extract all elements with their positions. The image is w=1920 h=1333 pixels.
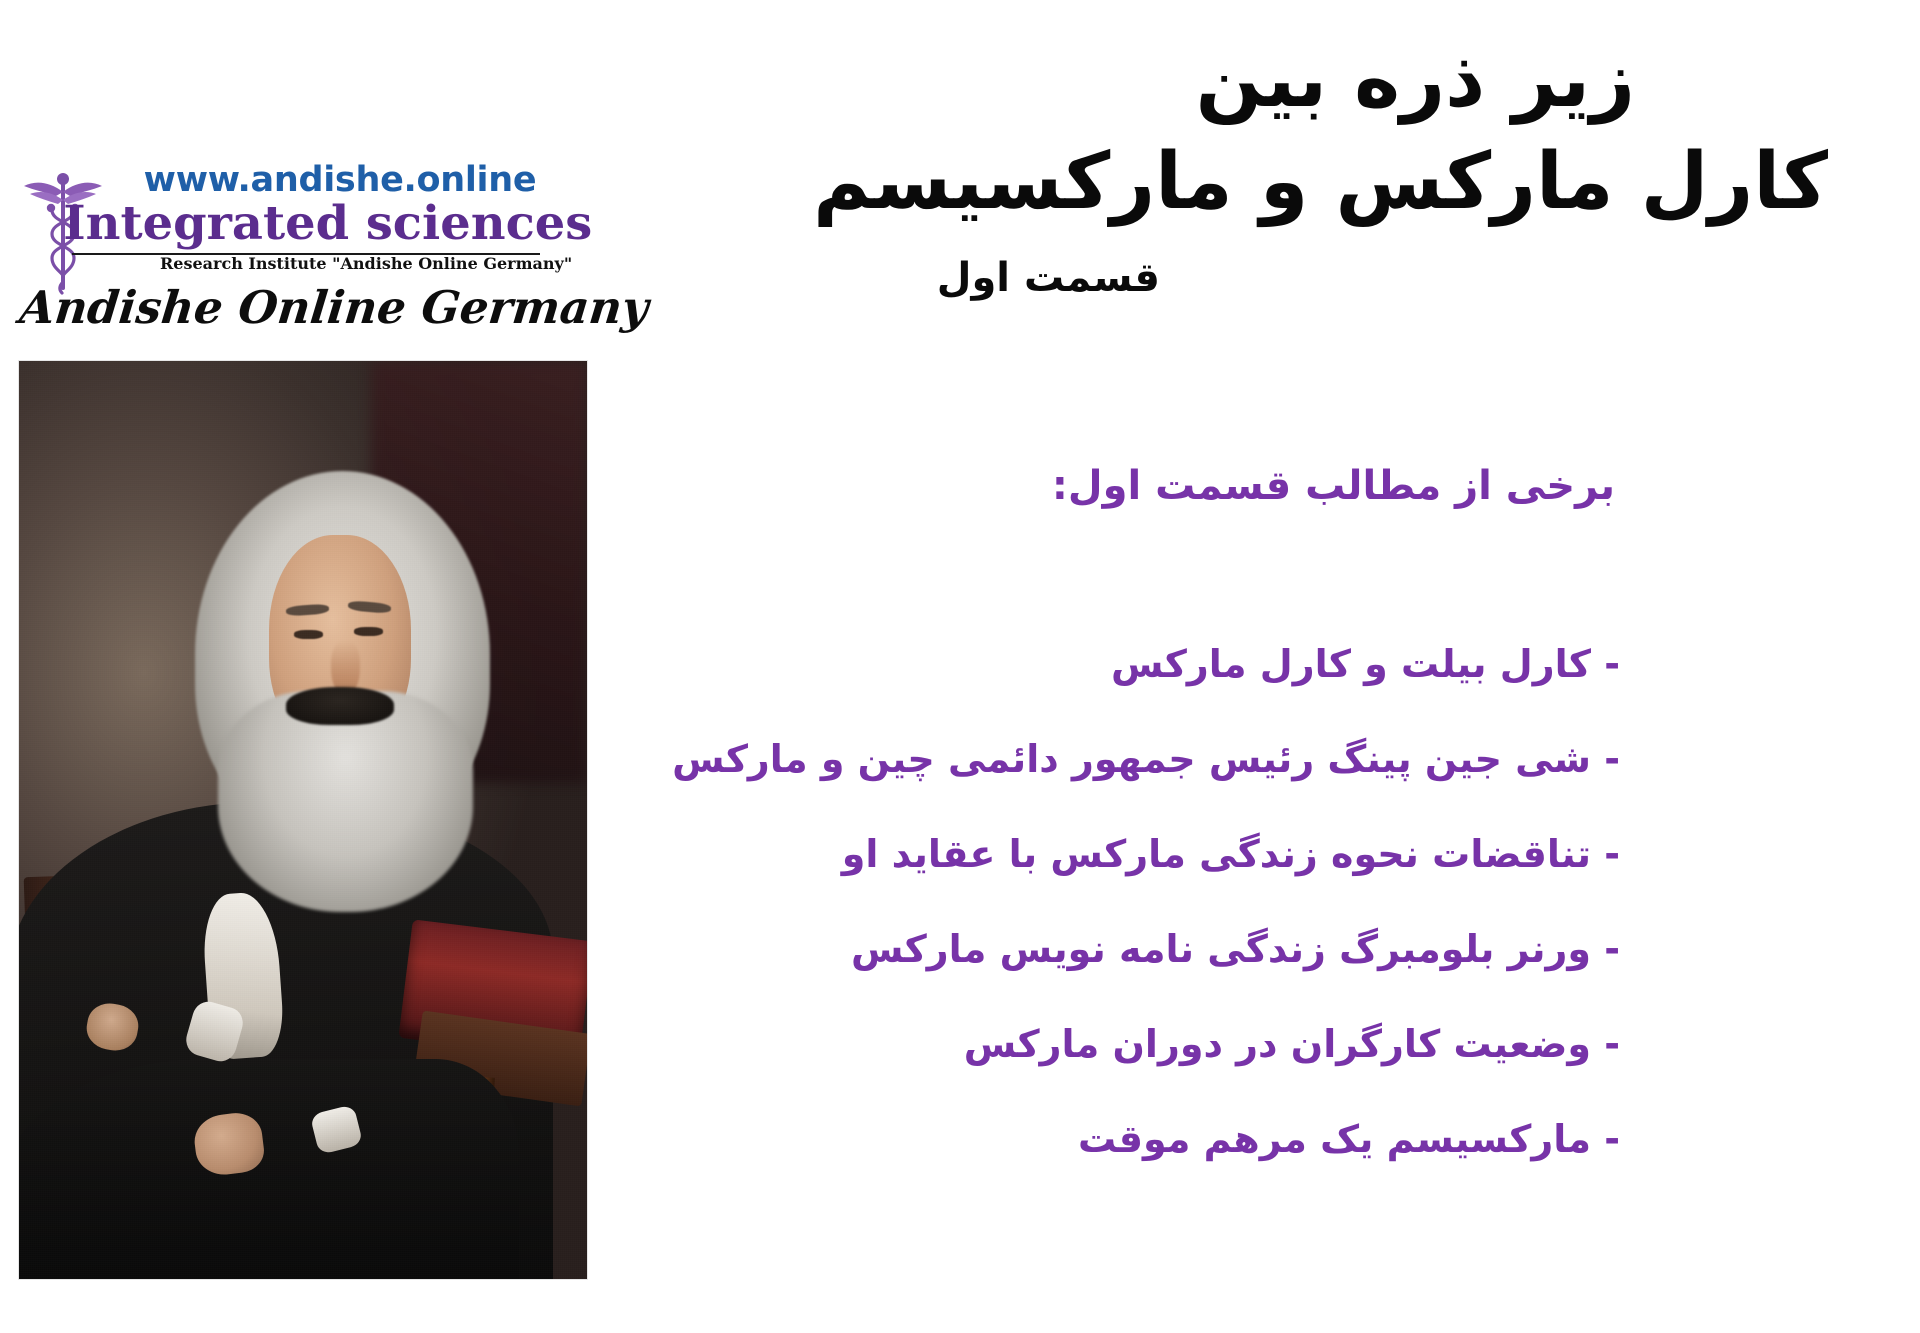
list-item: - وضعیت کارگران در دوران مارکس xyxy=(600,1025,1620,1063)
list-item: - شی جین پینگ رئیس جمهور دائمی چین و مار… xyxy=(600,740,1620,778)
portrait-eye-left xyxy=(294,630,322,639)
portrait-eye-right xyxy=(354,627,382,636)
portrait-lap xyxy=(18,1059,519,1280)
logo-institute-name: Integrated sciences xyxy=(63,200,553,247)
list-item: - ورنر بلومبرگ زندگی نامه نویس مارکس xyxy=(600,930,1620,968)
slide-canvas: www.andishe.online Integrated sciences R… xyxy=(0,0,1920,1333)
list-item: - تناقضات نحوه زندگی مارکس با عقاید او xyxy=(600,835,1620,873)
logo-script-name: Andishe Online Germany xyxy=(17,282,542,334)
list-item: - مارکسیسم یک مرهم موقت xyxy=(600,1120,1620,1158)
logo-website-url: www.andishe.online xyxy=(140,163,540,198)
title-line-2: کارل مارکس و مارکسیسم xyxy=(813,140,1828,226)
karl-marx-portrait xyxy=(18,360,588,1280)
logo-tagline: Research Institute "Andishe Online Germa… xyxy=(160,256,550,272)
list-item: - کارل بیلت و کارل مارکس xyxy=(600,645,1620,683)
contents-list: - کارل بیلت و کارل مارکس - شی جین پینگ ر… xyxy=(600,645,1920,1215)
brand-logo: www.andishe.online Integrated sciences R… xyxy=(10,160,550,355)
title-line-1: زیر ذره بین xyxy=(1196,38,1635,124)
episode-part-label: قسمت اول xyxy=(937,255,1160,301)
portrait-mustache xyxy=(286,687,394,726)
contents-heading: برخی از مطالب قسمت اول: xyxy=(1052,463,1615,509)
